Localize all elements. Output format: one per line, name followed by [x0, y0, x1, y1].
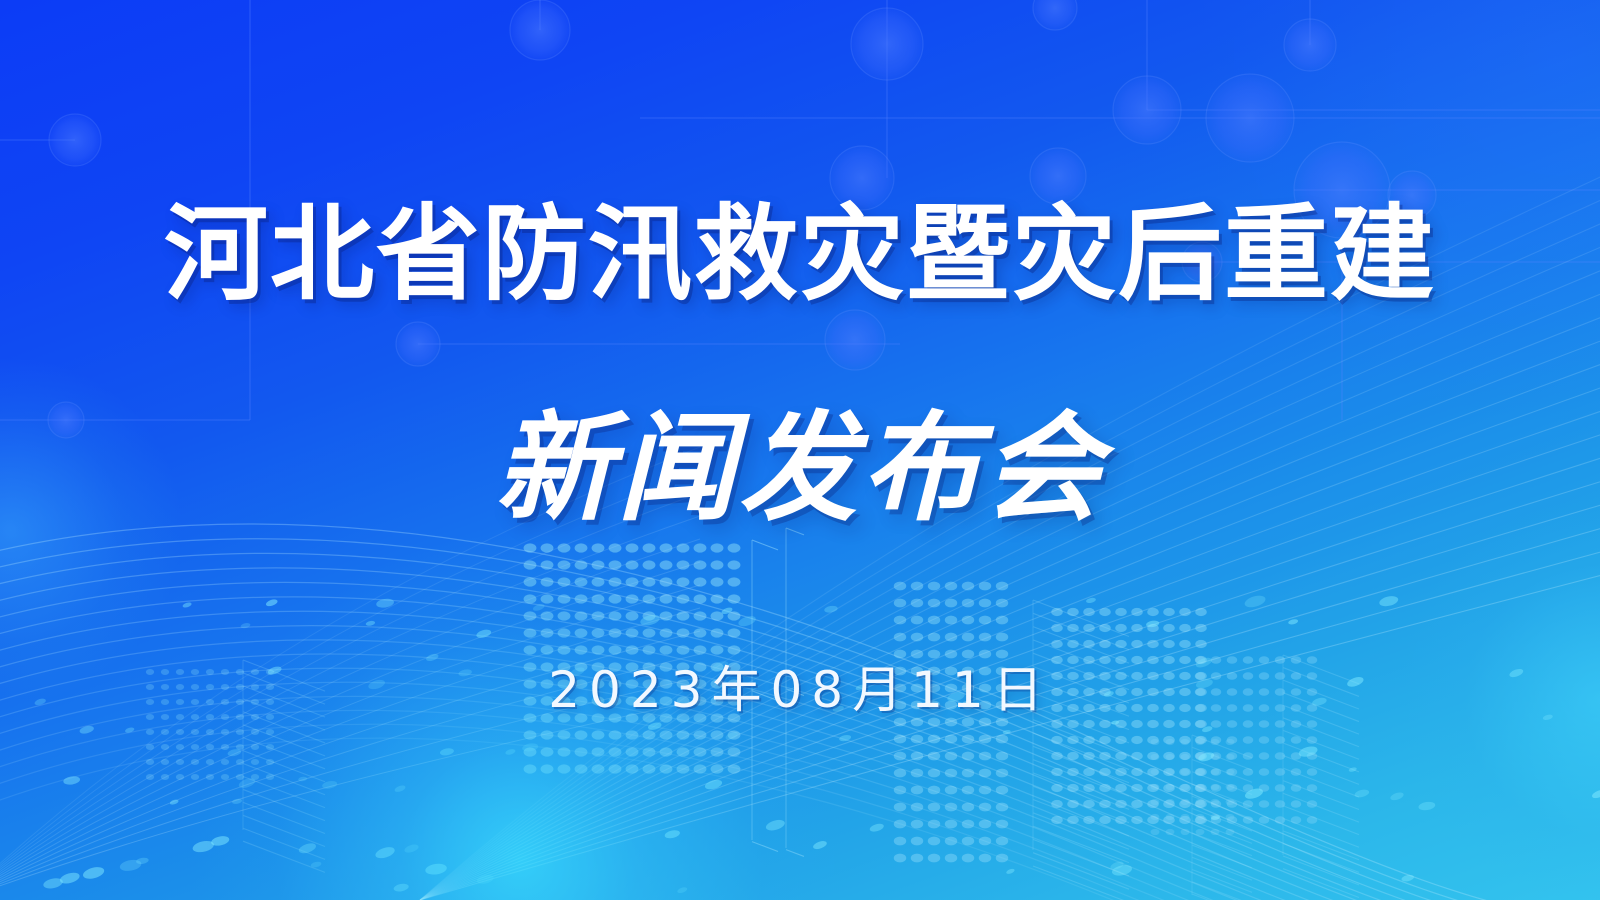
poster-canvas: 河北省防汛救灾暨灾后重建 新闻发布会 2023年08月11日	[0, 0, 1600, 900]
page-title-line-2: 新闻发布会	[0, 404, 1600, 534]
poster-text-content: 河北省防汛救灾暨灾后重建 新闻发布会 2023年08月11日	[0, 0, 1600, 900]
event-date: 2023年08月11日	[0, 650, 1600, 722]
page-title-line-1: 河北省防汛救灾暨灾后重建	[0, 196, 1600, 312]
